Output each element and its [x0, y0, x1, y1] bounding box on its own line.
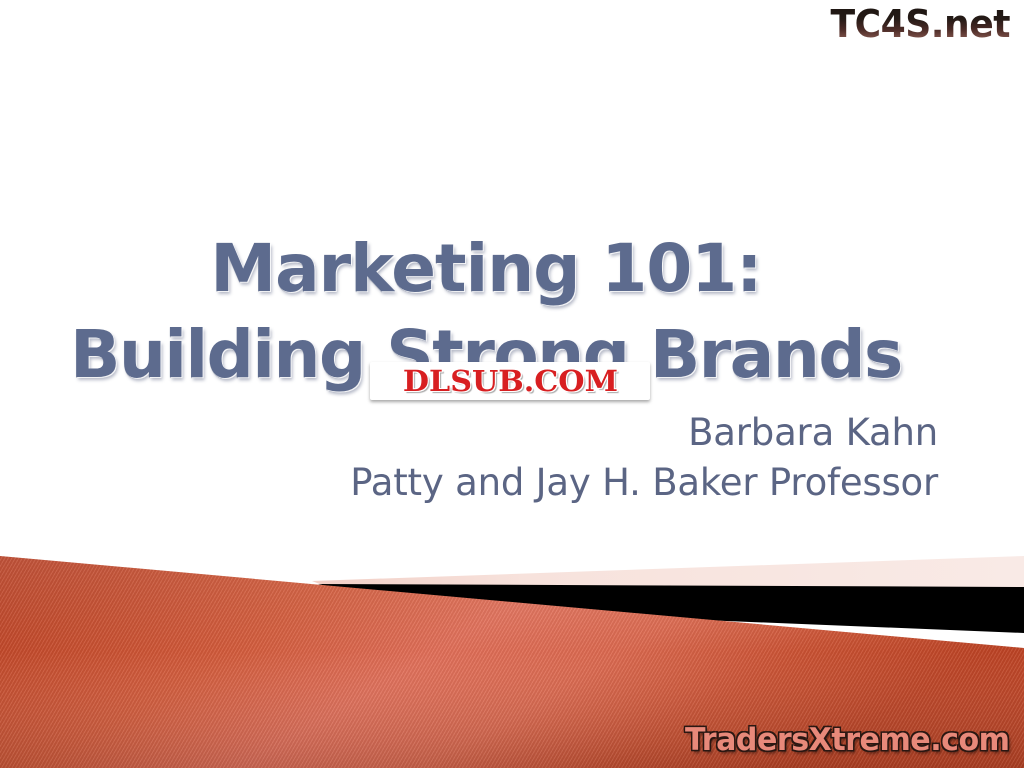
watermark-dlsub-label: DLSUB.COM	[402, 366, 617, 396]
watermark-tradersxtreme: TradersXtreme.com	[686, 722, 1010, 758]
site-logo-tc4s: TC4S.net	[830, 2, 1010, 46]
pink-wedge	[312, 556, 1024, 588]
watermark-dlsub: DLSUB.COM	[370, 362, 650, 400]
presentation-slide: TC4S.net Marketing 101: Building Strong …	[0, 0, 1024, 768]
